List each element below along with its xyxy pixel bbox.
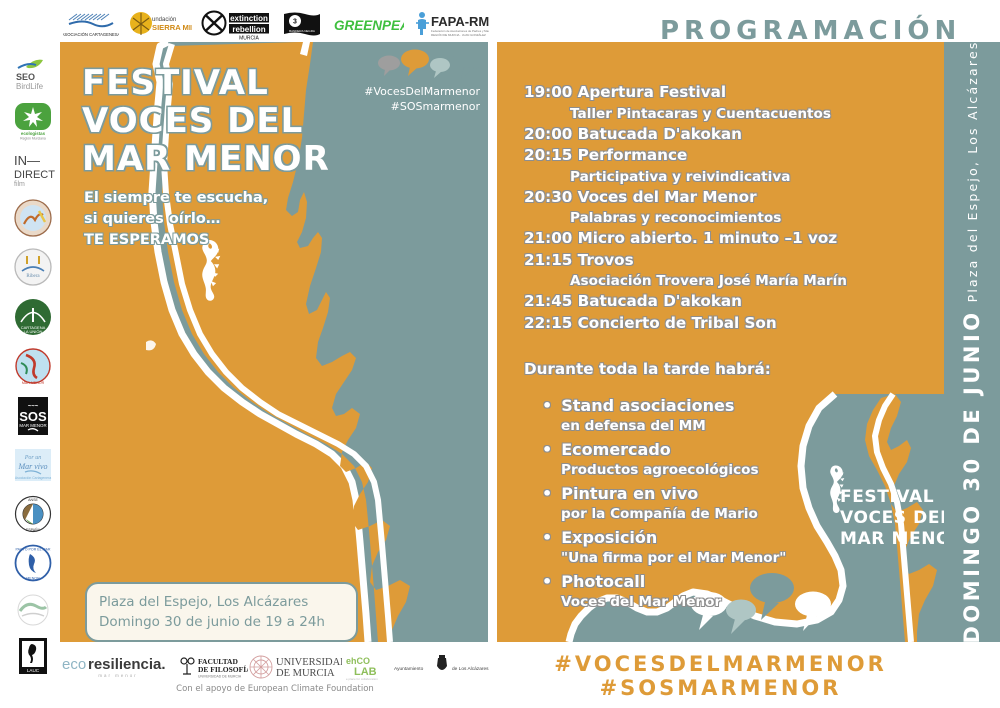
logo-por-un-mar-vivo: Por unMar vivoAsociación Cartagenera: [13, 447, 53, 485]
logo-fundacion-sierra-minera: undaciónSIERRA MINERA: [127, 10, 193, 40]
feature-title: Photocall: [542, 570, 842, 593]
logo-lauc-caballito: LAUC: [15, 636, 51, 676]
feature-title: Stand asociaciones: [542, 394, 842, 417]
logo-ayuntamiento-emblema: Ribera: [13, 247, 53, 287]
logo-bandera-negra: 3BANDERA NEGRA: [280, 10, 324, 40]
svg-text:IN—: IN—: [14, 153, 40, 168]
schedule-row: 20:30 Voces del Mar Menor: [524, 187, 914, 209]
schedule-time: 21:15: [524, 251, 578, 269]
logo-asociacion-cartagenesa: ASOCIACIÓN CARTAGENESA: [62, 10, 120, 40]
logo-universidad-de-murcia: UNIVERSIDADDE MURCIA: [248, 652, 342, 682]
svg-text:rebellion: rebellion: [233, 25, 266, 34]
svg-text:ESPAÑA: ESPAÑA: [26, 527, 41, 532]
venue-location: Plaza del Espejo, Los Alcázares: [99, 592, 344, 612]
svg-text:BirdLife: BirdLife: [16, 82, 44, 91]
schedule-time: 20:15: [524, 146, 578, 164]
schedule-title: Concierto de Tribal Son: [578, 314, 777, 332]
schedule-row: 21:15 Trovos: [524, 250, 914, 272]
feature-title: Exposición: [542, 526, 842, 549]
svg-text:Ribera: Ribera: [26, 274, 40, 279]
schedule-detail: Asociación Trovera José María Marín: [524, 271, 914, 291]
logo-mar-menor-global: MAR MENOR: [13, 346, 53, 386]
schedule-time: 22:15: [524, 314, 578, 332]
schedule-title: Trovos: [578, 251, 634, 269]
logo-cartagena-la-union: CARTAGENALA UNIÓN: [13, 297, 53, 337]
svg-text:extinction: extinction: [230, 14, 268, 23]
svg-text:LAUC: LAUC: [27, 668, 40, 673]
feature-item: EcomercadoProductos agroecológicos: [542, 438, 842, 480]
subtitle-line-3: TE ESPERAMOS: [84, 230, 374, 251]
left-sponsor-logos: SEOBirdLife ecologistasRegión Murciana I…: [8, 56, 58, 676]
svg-text:Por un: Por un: [24, 455, 42, 461]
logo-colegio-emblema: [13, 198, 53, 238]
schedule-time: 20:00: [524, 125, 578, 143]
schedule-title: Apertura Festival: [578, 83, 726, 101]
svg-text:UNIVERSIDAD: UNIVERSIDAD: [276, 657, 342, 668]
svg-text:e place for collaboration: e place for collaboration: [346, 677, 378, 681]
schedule-detail: Taller Pintacaras y Cuentacuentos: [524, 104, 914, 124]
svg-text:eco: eco: [62, 656, 86, 673]
schedule-row: 22:15 Concierto de Tribal Son: [524, 313, 914, 335]
svg-text:Región Murciana: Región Murciana: [20, 137, 46, 141]
logo-seo-birdlife: SEOBirdLife: [10, 56, 56, 92]
svg-text:Mar vivo: Mar vivo: [17, 462, 47, 471]
feature-item: PhotocallVoces del Mar Menor: [542, 570, 842, 612]
feature-item: Exposición"Una firma por el Mar Menor": [542, 526, 842, 568]
logo-anse-espana: ANSEESPAÑA: [13, 494, 53, 534]
logo-facultad-de-filosofia: FACULTADDE FILOSOFÍAUNIVERSIDAD DE MURCI…: [176, 652, 248, 682]
svg-text:resiliencia.: resiliencia.: [88, 656, 166, 673]
feature-item: Stand asociacionesen defensa del MM: [542, 394, 842, 436]
during-label: Durante toda la tarde habrá:: [524, 360, 771, 378]
top-sponsor-logos: ASOCIACIÓN CARTAGENESA undaciónSIERRA MI…: [62, 8, 490, 42]
vertical-place-text: Plaza del Espejo, Los Alcázares: [965, 40, 980, 302]
schedule-title: Performance: [578, 146, 688, 164]
svg-text:ecologistas: ecologistas: [21, 131, 46, 136]
features-list: Stand asociacionesen defensa del MMEcome…: [542, 394, 842, 614]
right-program-panel: 19:00 Apertura FestivalTaller Pintacaras…: [497, 42, 944, 642]
subtitle-line-1: El siempre te escucha,: [84, 188, 374, 209]
svg-text:ANSE: ANSE: [28, 498, 38, 502]
svg-text:MAR MENOR: MAR MENOR: [19, 423, 46, 428]
programacion-heading: PROGRAMACIÓN: [660, 16, 961, 46]
logo-fapa-rm: FAPA-RMFederación de Asociaciones de Pad…: [412, 9, 490, 41]
schedule-row: 21:00 Micro abierto. 1 minuto –1 voz: [524, 228, 914, 250]
logo-ecoresiliencia: ecoresiliencia.mar menor: [60, 652, 176, 682]
svg-text:REGIÓN DE MURCIA · JUAN GONZÁL: REGIÓN DE MURCIA · JUAN GONZÁLEZ: [431, 32, 486, 37]
hashtag-sos: #SOSmarmenor: [364, 99, 480, 114]
svg-text:3: 3: [293, 19, 297, 26]
logo-text: ASOCIACIÓN CARTAGENESA: [63, 32, 119, 37]
left-poster-panel: FESTIVAL VOCES DEL MAR MENOR El siempre …: [60, 42, 488, 642]
hashtag-voces: #VocesDelMarmenor: [364, 84, 480, 99]
logo-in-direct-film: IN—DIRECTfilm: [10, 151, 56, 189]
logo-ola-azul: [13, 593, 53, 627]
schedule-list: 19:00 Apertura FestivalTaller Pintacaras…: [524, 82, 914, 334]
bottom-sponsor-logos: ecoresiliencia.mar menor FACULTADDE FILO…: [60, 650, 490, 684]
svg-text:MURCIA: MURCIA: [240, 36, 260, 42]
schedule-detail: Participativa y reivindicativa: [524, 167, 914, 187]
subtitle-line-2: si quieres oírlo…: [84, 209, 374, 230]
schedule-title: Batucada D'akokan: [578, 125, 742, 143]
feature-detail: Voces del Mar Menor: [542, 593, 842, 612]
schedule-row: 21:45 Batucada D'akokan: [524, 291, 914, 313]
schedule-time: 21:00: [524, 229, 578, 247]
svg-text:GREENPEACE: GREENPEACE: [334, 18, 404, 33]
feature-title: Ecomercado: [542, 438, 842, 461]
logo-pacto-por-el-mar-menor: PACTO POR EL MARMENOR: [13, 543, 53, 583]
schedule-title: Micro abierto. 1 minuto –1 voz: [578, 229, 838, 247]
feature-detail: Productos agroecológicos: [542, 461, 842, 480]
bottom-hashtags: #VOCESDELMARMENOR #SOSMARMENOR: [497, 652, 944, 700]
svg-text:MAR MENOR: MAR MENOR: [22, 381, 45, 385]
feature-detail: "Una firma por el Mar Menor": [542, 549, 842, 568]
logo-ehcolab: ehCOLABe place for collaboration: [342, 652, 392, 682]
logo-extinction-rebellion-murcia: extinctionrebellionMURCIA: [200, 9, 272, 41]
poster-canvas: ASOCIACIÓN CARTAGENESA undaciónSIERRA MI…: [0, 0, 1000, 708]
festival-title: FESTIVAL VOCES DEL MAR MENOR: [82, 64, 382, 178]
schedule-title: Voces del Mar Menor: [578, 188, 757, 206]
venue-date: Domingo 30 de junio de 19 a 24h: [99, 612, 344, 632]
schedule-row: 20:00 Batucada D'akokan: [524, 124, 914, 146]
svg-text:LA UNIÓN: LA UNIÓN: [24, 329, 43, 334]
feature-detail: por la Compañía de Mario: [542, 505, 842, 524]
svg-text:SIERRA MINERA: SIERRA MINERA: [152, 23, 192, 32]
svg-text:mar menor: mar menor: [98, 673, 137, 678]
schedule-title: Batucada D'akokan: [578, 292, 742, 310]
vertical-date-bar: DOMINGO 30 DE JUNIO Plaza del Espejo, Lo…: [944, 42, 1000, 642]
svg-text:UNIVERSIDAD DE MURCIA: UNIVERSIDAD DE MURCIA: [198, 675, 242, 679]
schedule-time: 21:45: [524, 292, 578, 310]
svg-text:de Los Alcázares: de Los Alcázares: [452, 666, 489, 672]
venue-info-box: Plaza del Espejo, Los Alcázares Domingo …: [85, 582, 358, 642]
svg-text:MENOR: MENOR: [26, 577, 40, 581]
svg-text:DE MURCIA: DE MURCIA: [276, 668, 335, 679]
schedule-detail: Palabras y reconocimientos: [524, 208, 914, 228]
speech-bubbles-left: [375, 42, 488, 82]
feature-item: Pintura en vivopor la Compañía de Mario: [542, 482, 842, 524]
schedule-row: 20:15 Performance: [524, 145, 914, 167]
vertical-date-text: DOMINGO 30 DE JUNIO: [960, 309, 984, 643]
svg-text:ehCO: ehCO: [346, 656, 370, 666]
svg-text:Ayuntamiento: Ayuntamiento: [394, 666, 424, 672]
feature-detail: en defensa del MM: [542, 417, 842, 436]
festival-subtitle: El siempre te escucha, si quieres oírlo……: [84, 188, 374, 251]
svg-text:SEO: SEO: [16, 72, 35, 82]
logo-ecologistas-en-accion: ecologistasRegión Murciana: [12, 101, 54, 141]
svg-text:SOS: SOS: [19, 409, 47, 424]
svg-text:DIRECT: DIRECT: [14, 169, 55, 181]
schedule-time: 19:00: [524, 83, 578, 101]
support-credit: Con el apoyo de European Climate Foundat…: [60, 684, 490, 694]
svg-text:film: film: [14, 181, 25, 188]
svg-text:DE FILOSOFÍA: DE FILOSOFÍA: [198, 664, 248, 674]
svg-text:PACTO POR EL MAR: PACTO POR EL MAR: [15, 548, 50, 552]
schedule-time: 20:30: [524, 188, 578, 206]
left-hashtags: #VocesDelMarmenor #SOSmarmenor: [364, 84, 480, 114]
svg-text:FAPA-RM: FAPA-RM: [431, 14, 489, 29]
logo-sos-mar-menor: ~~~SOSMAR MENOR: [13, 395, 53, 437]
schedule-row: 19:00 Apertura Festival: [524, 82, 914, 104]
feature-title: Pintura en vivo: [542, 482, 842, 505]
svg-text:Asociación Cartagenera: Asociación Cartagenera: [15, 476, 51, 480]
logo-ayuntamiento-los-alcazares: Ayuntamientode Los Alcázares: [392, 652, 490, 682]
svg-text:BANDERA NEGRA: BANDERA NEGRA: [289, 29, 315, 33]
logo-greenpeace: GREENPEACE: [331, 12, 405, 38]
